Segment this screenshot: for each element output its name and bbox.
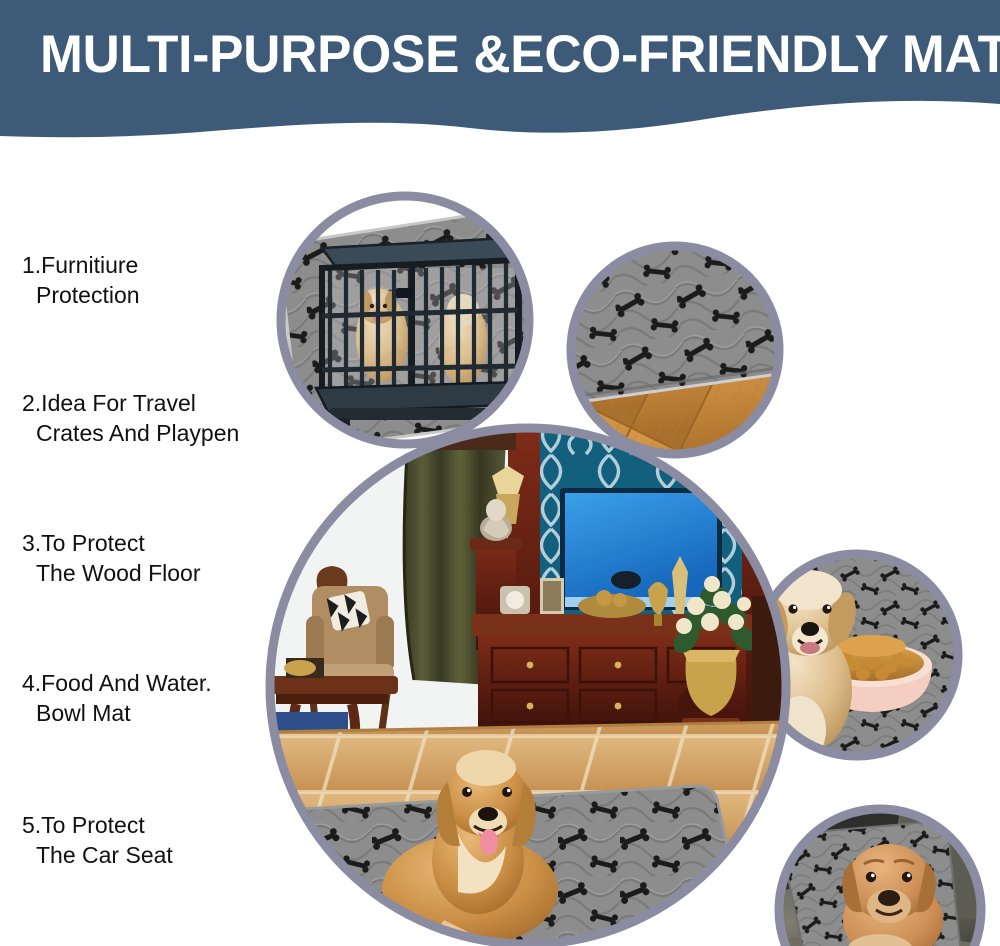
photo-puppy-car-seat	[779, 809, 981, 946]
feature-line-1: 4.Food And Water.	[0, 668, 288, 698]
feature-item-travel-crates: 2.Idea For Travel Crates And Playpen	[0, 388, 288, 448]
feature-item-food-water-bowl-mat: 4.Food And Water. Bowl Mat	[0, 668, 288, 728]
feature-line-1: 1.Furnitiure	[0, 250, 288, 280]
page-title: MULTI-PURPOSE &ECO-FRIENDLY MAT	[40, 26, 942, 84]
feature-line-1: 5.To Protect	[0, 810, 288, 840]
feature-item-wood-floor: 3.To Protect The Wood Floor	[0, 528, 288, 588]
feature-line-1: 3.To Protect	[0, 528, 288, 558]
feature-line-1: 2.Idea For Travel	[0, 388, 288, 418]
feature-line-2: Crates And Playpen	[0, 418, 288, 448]
product-infographic: 1.Furnitiure Protection 2.Idea For Trave…	[0, 0, 1000, 946]
feature-line-2: Protection	[0, 280, 288, 310]
feature-item-car-seat: 5.To Protect The Car Seat	[0, 810, 288, 870]
feature-line-2: Bowl Mat	[0, 698, 288, 728]
feature-line-2: The Car Seat	[0, 840, 288, 870]
feature-item-furniture-protection: 1.Furnitiure Protection	[0, 250, 288, 310]
photo-mat-corner-on-wood-floor	[541, 200, 807, 460]
feature-line-2: The Wood Floor	[0, 558, 288, 588]
